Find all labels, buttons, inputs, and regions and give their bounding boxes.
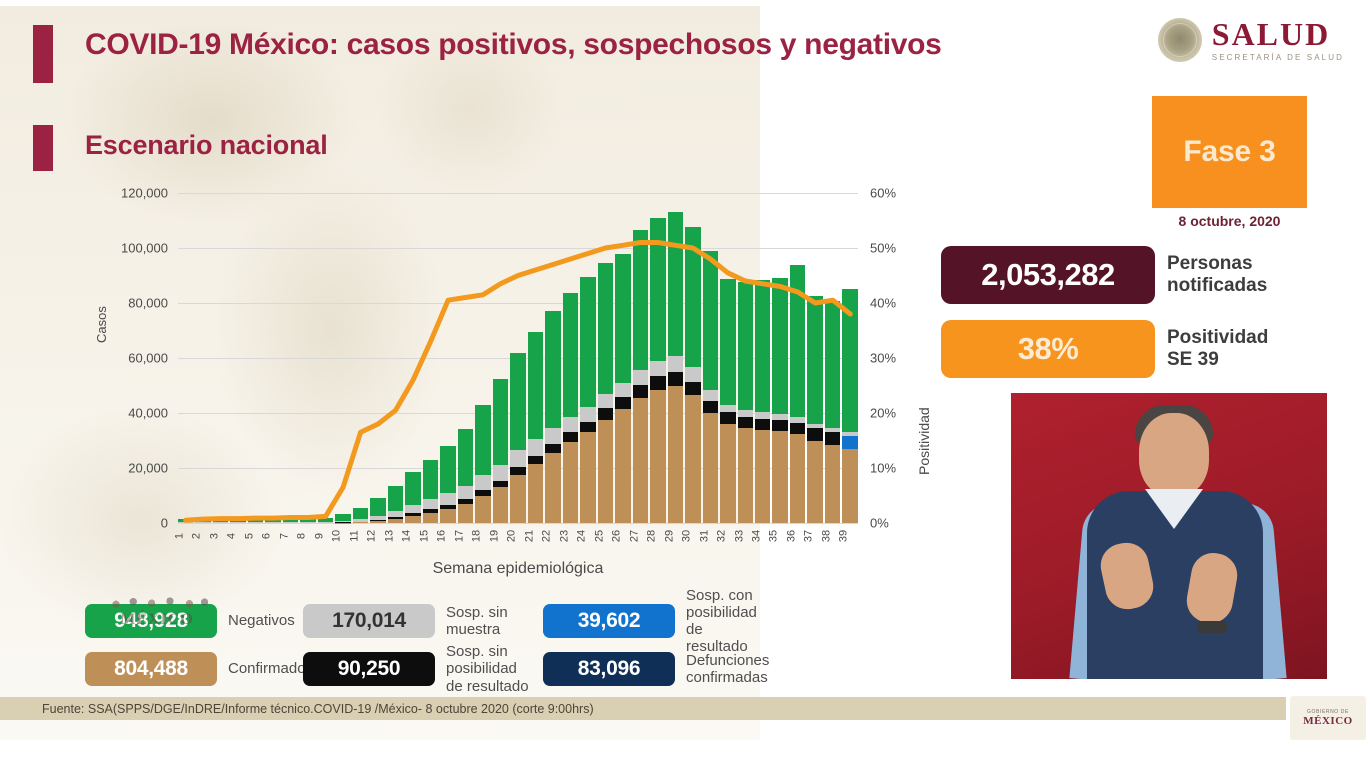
bar-segment [738,417,753,428]
bar-segment [720,412,735,424]
bar-segment [458,504,473,523]
bar-segment [423,460,438,500]
phase-label: Fase 3 [1183,135,1275,169]
bar-segment [528,464,543,523]
stat-personas-notificadas: 2,053,282 Personas notificadas [941,246,1267,304]
bar-segment [545,428,560,444]
legend-label-sin-muestra: Sosp. sin muestra [446,604,543,639]
stat-caption-positividad: Positividad SE 39 [1167,327,1268,371]
bar-segment [720,424,735,523]
stat-positividad: 38% Positividad SE 39 [941,320,1268,378]
bar-segment [772,431,787,523]
y2-axis-tick-label: 0% [870,516,889,531]
bar-segment [423,513,438,523]
chart-legend: 948,928 Negativos 170,014 Sosp. sin mues… [85,600,965,690]
legend-value-sin-muestra: 170,014 [303,604,435,638]
bar-segment [440,493,455,505]
bar-segment [388,519,403,523]
bar-segment [825,301,840,428]
bar-segment [545,311,560,428]
bar-segment [458,486,473,499]
bar-segment [213,522,228,523]
bar-column [248,193,263,523]
phase-badge: Fase 3 [1152,96,1307,208]
gobierno-de-mexico-logo: GOBIERNO DE MÉXICO [1290,696,1366,740]
bar-segment [405,472,420,505]
bar-segment [738,428,753,523]
bar-segment [842,289,857,432]
y2-axis-tick-label: 20% [870,406,896,421]
y-axis-tick-label: 120,000 [121,186,168,201]
source-footer: Fuente: SSA(SPPS/DGE/InDRE/Informe técni… [0,697,1286,720]
bar-segment [633,230,648,370]
bar-column [528,193,543,523]
bar-segment [563,432,578,442]
y-axis-tick-label: 40,000 [128,406,168,421]
legend-value-negativos: 948,928 [85,604,217,638]
plot-area: 020,00040,00060,00080,000100,000120,000 … [178,193,858,523]
bar-column [738,193,753,523]
bar-segment [493,379,508,464]
bottom-strip [0,740,1366,768]
bar-segment [598,420,613,523]
bar-segment [633,398,648,523]
bar-segment [615,254,630,383]
bar-segment [720,405,735,412]
bar-segment [440,446,455,493]
bar-segment [755,430,770,524]
bar-segment [353,522,368,523]
x-axis-title: Semana epidemiológica [178,560,858,578]
legend-value-con-posibilidad: 39,602 [543,604,675,638]
bar-column [230,193,245,523]
bar-segment [790,434,805,523]
bar-segment [283,522,298,523]
mexican-coat-of-arms-seal-icon [1158,18,1202,62]
report-date: 8 octubre, 2020 [1152,213,1307,229]
legend-item-confirmados: 804,488 Confirmados [85,652,303,686]
gridline [178,523,858,524]
bar-segment [353,508,368,519]
bar-segment [475,475,490,490]
bar-segment [265,522,280,523]
bar-segment [720,279,735,406]
top-edge [0,0,1366,6]
bar-segment [405,505,420,513]
bar-segment [703,390,718,402]
bar-segment [580,277,595,406]
legend-item-negativos: 948,928 Negativos [85,604,303,638]
bar-segment [178,522,193,523]
bar-segment [703,413,718,523]
interpreter-head [1139,413,1209,497]
bar-segment [580,407,595,422]
y2-axis-tick-label: 10% [870,461,896,476]
bar-column [650,193,665,523]
bar-segment [772,278,787,414]
bar-column [353,193,368,523]
bar-segment [790,265,805,418]
bar-segment [807,428,822,440]
bar-segment [440,509,455,523]
bar-segment [598,408,613,420]
bar-column [493,193,508,523]
bar-segment [650,390,665,523]
bar-segment [230,522,245,523]
bar-segment [493,481,508,488]
bar-column [318,193,333,523]
bar-segment [825,432,840,445]
y-axis-tick-label: 80,000 [128,296,168,311]
gob-logo-main-text: MÉXICO [1303,715,1352,727]
bar-segment [685,367,700,382]
bar-segment [580,432,595,523]
bar-column [633,193,648,523]
bar-column [283,193,298,523]
bar-segment [458,429,473,485]
bar-column [790,193,805,523]
bar-column [458,193,473,523]
bar-segment [248,522,263,523]
bar-column [668,193,683,523]
y-axis-tick-label: 100,000 [121,241,168,256]
bar-segment [807,441,822,524]
legend-item-sin-posibilidad: 90,250 Sosp. sin posibilidad de resultad… [303,643,543,695]
bar-segment [300,522,315,523]
salud-logo-subtitle: SECRETARÍA DE SALUD [1212,54,1344,62]
bar-segment [842,436,857,448]
x-axis-ticks: 1234567891011121314151617181920212223242… [178,525,858,547]
bar-segment [580,422,595,433]
bar-segment [510,450,525,467]
bar-column [440,193,455,523]
bar-segment [668,212,683,356]
bar-segment [563,417,578,432]
title-accent-bar [33,25,53,83]
bar-segment [790,423,805,433]
bar-segment [545,444,560,453]
bar-segment [388,486,403,511]
bar-segment [510,353,525,451]
bar-segment [633,370,648,385]
bar-column [545,193,560,523]
subtitle-accent-bar [33,125,53,171]
covid-stacked-bar-chart: Casos Positividad 020,00040,00060,00080,… [80,175,950,580]
bar-column [772,193,787,523]
stat-value-notificadas: 2,053,282 [941,246,1155,304]
bar-segment [650,376,665,389]
bar-segment [598,263,613,394]
bar-segment [598,394,613,408]
bar-segment [335,514,350,521]
stat-value-positividad: 38% [941,320,1155,378]
bar-column [510,193,525,523]
y2-axis-title: Positividad [916,407,932,475]
bar-segment [738,410,753,417]
legend-value-defunciones: 83,096 [543,652,675,686]
bar-segment [633,385,648,398]
bar-column [335,193,350,523]
bar-segment [668,356,683,372]
bar-segment [755,412,770,419]
bar-column [178,193,193,523]
legend-label-con-posibilidad: Sosp. con posibilidad de resultado [686,587,758,656]
bar-column [825,193,840,523]
legend-label-negativos: Negativos [228,612,295,629]
bar-column [213,193,228,523]
bar-segment [825,445,840,523]
bar-column [563,193,578,523]
bar-column [265,193,280,523]
bar-segment [493,487,508,523]
legend-item-defunciones: 83,096 Defunciones confirmadas [543,652,758,687]
bar-segment [668,386,683,524]
bar-column [807,193,822,523]
legend-label-defunciones: Defunciones confirmadas [686,652,769,687]
bar-segment [615,409,630,523]
bar-column [755,193,770,523]
bar-segment [528,456,543,464]
bar-segment [510,467,525,474]
bar-segment [563,442,578,523]
bar-segment [528,332,543,439]
bar-segment [195,522,210,523]
legend-item-sin-muestra: 170,014 Sosp. sin muestra [303,604,543,639]
bar-segment [685,395,700,523]
legend-label-confirmados: Confirmados [228,660,313,677]
sign-language-interpreter-video [1011,393,1327,679]
bar-segment [510,475,525,523]
stat-caption-notificadas: Personas notificadas [1167,253,1267,297]
presentation-slide: COVID-19 México: casos positivos, sospec… [0,0,1366,768]
y2-axis-tick-label: 40% [870,296,896,311]
bar-segment [615,397,630,409]
bar-segment [650,218,665,361]
bar-column [685,193,700,523]
bar-segment [738,282,753,410]
bar-segment [475,405,490,475]
y2-axis-tick-label: 50% [870,241,896,256]
bar-segment [772,420,787,431]
bar-column [842,193,857,523]
legend-value-confirmados: 804,488 [85,652,217,686]
bar-segment [755,419,770,430]
bar-segment [807,296,822,424]
x-axis-tick-label: 39 [839,528,861,543]
y-axis-title: Casos [94,306,109,343]
y2-axis-tick-label: 60% [870,186,896,201]
y-axis-tick-label: 20,000 [128,461,168,476]
bar-segment [685,227,700,367]
bar-segment [370,521,385,523]
bar-segment [528,439,543,456]
y-axis-tick-label: 60,000 [128,351,168,366]
bar-segment [563,293,578,417]
bar-column [195,193,210,523]
legend-item-con-posibilidad: 39,602 Sosp. con posibilidad de resultad… [543,587,758,656]
page-subtitle: Escenario nacional [85,130,328,161]
bar-column [405,193,420,523]
bar-column [300,193,315,523]
bar-segment [493,465,508,481]
y2-axis-tick-label: 30% [870,351,896,366]
legend-label-sin-posibilidad: Sosp. sin posibilidad de resultado [446,643,543,695]
bar-column [388,193,403,523]
bar-segment [703,251,718,390]
bar-segment [685,382,700,395]
salud-logo-word: SALUD [1212,18,1344,50]
bar-segment [842,449,857,523]
salud-wordmark: SALUD SECRETARÍA DE SALUD [1212,18,1344,62]
bar-column [580,193,595,523]
bar-segment [405,516,420,523]
bar-series-group [178,193,858,523]
bar-segment [650,361,665,376]
bar-segment [545,453,560,523]
bar-segment [615,383,630,397]
y-axis-tick-label: 0 [161,516,168,531]
bar-column [598,193,613,523]
bar-segment [668,372,683,385]
page-title: COVID-19 México: casos positivos, sospec… [85,28,942,62]
bar-column [475,193,490,523]
salud-logo: SALUD SECRETARÍA DE SALUD [1158,18,1344,62]
bar-segment [755,280,770,412]
bar-column [703,193,718,523]
bar-column [615,193,630,523]
legend-value-sin-posibilidad: 90,250 [303,652,435,686]
source-text: Fuente: SSA(SPPS/DGE/InDRE/Informe técni… [0,702,594,716]
bar-segment [703,401,718,413]
bar-column [370,193,385,523]
bar-segment [423,499,438,509]
bar-segment [318,522,333,523]
bar-column [720,193,735,523]
bar-segment [370,498,385,516]
bar-segment [475,496,490,523]
bar-column [423,193,438,523]
interpreter-watch [1197,621,1227,633]
